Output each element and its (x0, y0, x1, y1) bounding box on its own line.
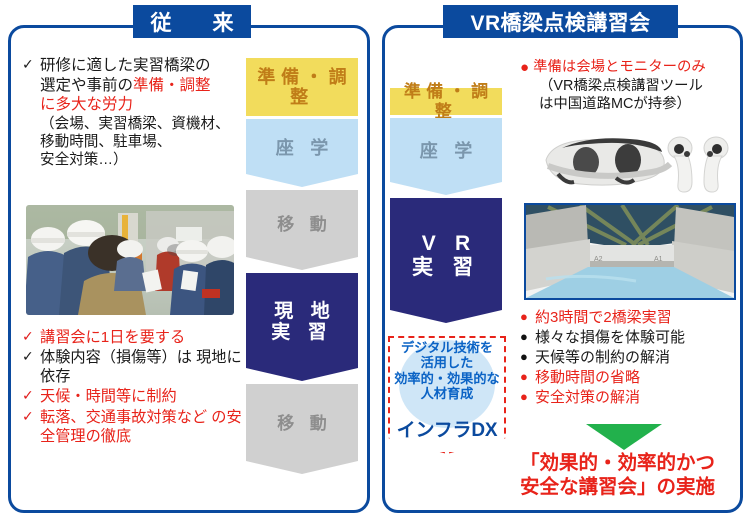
note-line: 準備は会場とモニターのみ (533, 58, 706, 76)
conventional-timeline-step-label: 現 地 実 習 (268, 301, 336, 344)
vr-timeline-step-3: V R 実 習 (390, 198, 502, 323)
conventional-timeline-step-5: 移 動 (246, 384, 358, 474)
bullet-line-head: 選定や事前の (40, 77, 133, 94)
conventional-timeline: 準備・調整座 学移 動現 地 実 習移 動 (246, 58, 358, 477)
check-icon: ✓ (22, 408, 37, 426)
conventional-timeline-step-3: 移 動 (246, 190, 358, 270)
conventional-timeline-step-label: 準備・調整 (246, 67, 358, 107)
infographic-canvas: 従 来 ✓ 研修に適した実習橋梁の 選定や事前の準備・調整 に多大な労力 （会場… (0, 0, 751, 525)
list-item-label: 天候等の制約の解消 (535, 348, 670, 368)
svg-text:A2: A2 (594, 256, 603, 263)
conventional-top-bullet: ✓ 研修に適した実習橋梁の 選定や事前の準備・調整 に多大な労力 （会場、実習橋… (22, 56, 237, 170)
vr-conclusion: 「効果的・効率的かつ 安全な講習会」の実施 (520, 452, 748, 500)
conventional-timeline-step-2: 座 学 (246, 119, 358, 187)
conventional-timeline-step-label: 移 動 (272, 215, 332, 234)
bullet-dot-icon: ● (520, 58, 529, 77)
bullet-dot-icon: ● (520, 368, 535, 387)
bullet-line: 移動時間、駐車場、 (40, 133, 237, 151)
panel-vr-header: VR橋梁点検講習会 (443, 5, 678, 38)
dx-line: 人材育成 (388, 386, 506, 401)
list-item-label: 約3時間で2橋梁実習 (535, 308, 672, 328)
list-item: ✓ 転落、交通事故対策など の安全管理の徹底 (22, 408, 250, 446)
list-item: ●移動時間の省略 (520, 368, 742, 388)
bullet-dot-icon: ● (520, 308, 535, 327)
conclusion-line: 「効果的・効率的かつ (520, 452, 748, 476)
check-icon: ✓ (22, 56, 37, 74)
training-photo-art (26, 205, 234, 315)
list-item: ✓ 天候・時間等に制約 (22, 387, 250, 406)
bullet-dot-icon: ● (520, 328, 535, 347)
bullet-line-emphasis: 準備・調整 (133, 77, 211, 94)
vr-timeline: 準備・調整座 学V R 実 習 (390, 88, 502, 326)
conventional-timeline-step-1: 準備・調整 (246, 58, 358, 116)
conventional-timeline-step-label: 座 学 (270, 138, 334, 158)
conclusion-line: 安全な講習会」の実施 (520, 476, 748, 500)
list-item: ●天候等の制約の解消 (520, 348, 742, 368)
note-line: は中国道路MCが持参） (539, 95, 738, 113)
note-line: （VR橋梁点検講習ツール (539, 77, 738, 95)
list-item-label: 天候・時間等に制約 (40, 387, 250, 406)
vr-timeline-step-2: 座 学 (390, 118, 502, 195)
outdoor-training-photo (26, 205, 234, 315)
bullet-dot-icon: ● (520, 388, 535, 407)
list-item-label: 様々な損傷を体験可能 (535, 328, 685, 348)
svg-text:A1: A1 (654, 256, 663, 263)
list-item-label: 移動時間の省略 (535, 368, 640, 388)
infra-dx-text: デジタル技術を 活用した 効率的・効果的な 人材育成 (388, 340, 506, 401)
list-item: ●様々な損傷を体験可能 (520, 328, 742, 348)
bullet-line: に多大な労力 (40, 95, 237, 115)
list-item-label: 体験内容（損傷等）は (40, 349, 192, 366)
check-icon: ✓ (22, 328, 37, 346)
vr-timeline-step-label: V R 実 習 (412, 232, 480, 279)
vr-headset-photo (528, 126, 734, 198)
bullet-line: 安全対策…） (40, 151, 237, 169)
conventional-timeline-step-4: 現 地 実 習 (246, 273, 358, 381)
list-item-label: 講習会に1日を要する (40, 328, 250, 347)
infra-dx-title: インフラDX (388, 415, 506, 442)
vr-timeline-step-label: 座 学 (414, 141, 478, 161)
bullet-line: 研修に適した実習橋梁の (40, 56, 237, 76)
list-item: ●約3時間で2橋梁実習 (520, 308, 742, 328)
vr-bridge-scene-photo: A2 A1 (524, 203, 736, 300)
green-down-arrow-icon (578, 424, 670, 450)
conventional-issue-list: ✓ 講習会に1日を要する ✓ 体験内容（損傷等）は 現地に依存 ✓ 天候・時間等… (22, 328, 250, 447)
vr-benefit-list: ●約3時間で2橋梁実習●様々な損傷を体験可能●天候等の制約の解消●移動時間の省略… (520, 308, 742, 408)
dx-line: 効率的・効果的な (388, 371, 506, 386)
vr-headset-art (528, 126, 734, 198)
vr-preparation-note: ● 準備は会場とモニターのみ （VR橋梁点検講習ツール は中国道路MCが持参） (520, 58, 738, 114)
check-icon: ✓ (22, 387, 37, 405)
vr-timeline-step-label: 準備・調整 (390, 82, 502, 120)
panel-conventional-header: 従 来 (133, 5, 251, 38)
list-item-label: 安全対策の解消 (535, 388, 640, 408)
list-item: ●安全対策の解消 (520, 388, 742, 408)
list-item: ✓ 体験内容（損傷等）は 現地に依存 (22, 348, 250, 386)
list-item-label: 転落、交通事故対策など (40, 409, 207, 426)
bullet-dot-icon: ● (520, 348, 535, 367)
bullet-line: 選定や事前の準備・調整 (40, 76, 237, 96)
list-item: ✓ 講習会に1日を要する (22, 328, 250, 347)
dx-line: デジタル技術を (388, 340, 506, 355)
check-icon: ✓ (22, 348, 37, 366)
conventional-timeline-step-label: 移 動 (272, 414, 332, 433)
dx-line: 活用した (388, 355, 506, 370)
bridge-scene-art: A2 A1 (526, 205, 734, 298)
vr-timeline-step-1: 準備・調整 (390, 88, 502, 115)
bullet-line: （会場、実習橋梁、資機材、 (40, 115, 237, 133)
